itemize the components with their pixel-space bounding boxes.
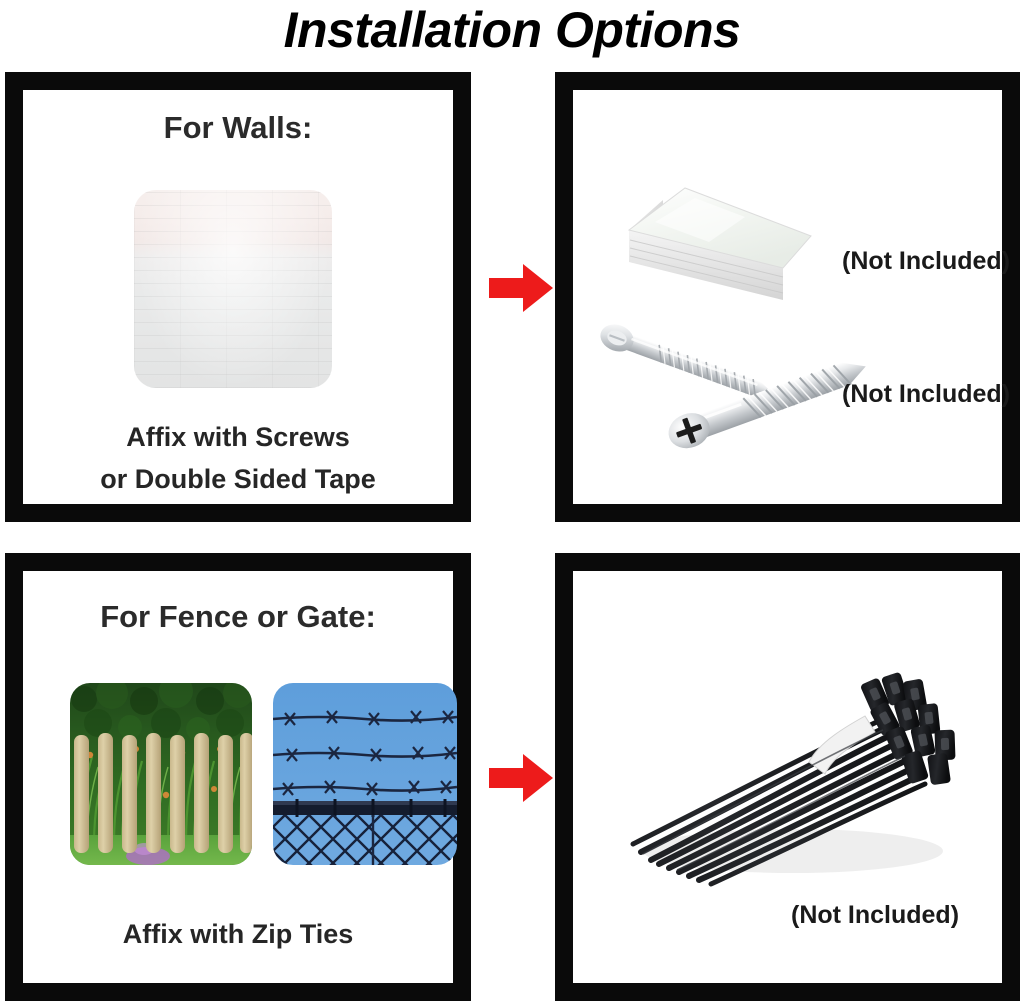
red-right-arrow-icon [489,752,553,804]
red-right-arrow-icon [489,262,553,314]
panel-for-walls: For Walls: Affix with Screws or Double S… [5,72,471,522]
wooden-picket-fence-photo [70,683,252,865]
walls-caption-line-2: or Double Sided Tape [23,464,453,495]
chain-link-barbed-wire-fence-photo [273,683,457,865]
screws-not-included-label: (Not Included) [842,380,1010,409]
double-sided-tape-stack-icon [625,182,815,302]
walls-caption-line-1: Affix with Screws [23,422,453,453]
page-title: Installation Options [0,0,1024,66]
black-zip-ties-bundle-icon [613,656,963,911]
for-walls-heading: For Walls: [23,110,453,146]
panel-for-fence-or-gate: For Fence or Gate: [5,553,471,1001]
white-brick-wall-texture-icon [134,190,332,388]
fence-caption-line-1: Affix with Zip Ties [23,919,453,950]
tape-not-included-label: (Not Included) [842,247,1010,276]
panel-fence-hardware: (Not Included) [555,553,1020,1001]
zip-ties-not-included-label: (Not Included) [791,901,959,930]
for-fence-or-gate-heading: For Fence or Gate: [23,599,453,635]
panel-wall-hardware: (Not Included) [555,72,1020,522]
